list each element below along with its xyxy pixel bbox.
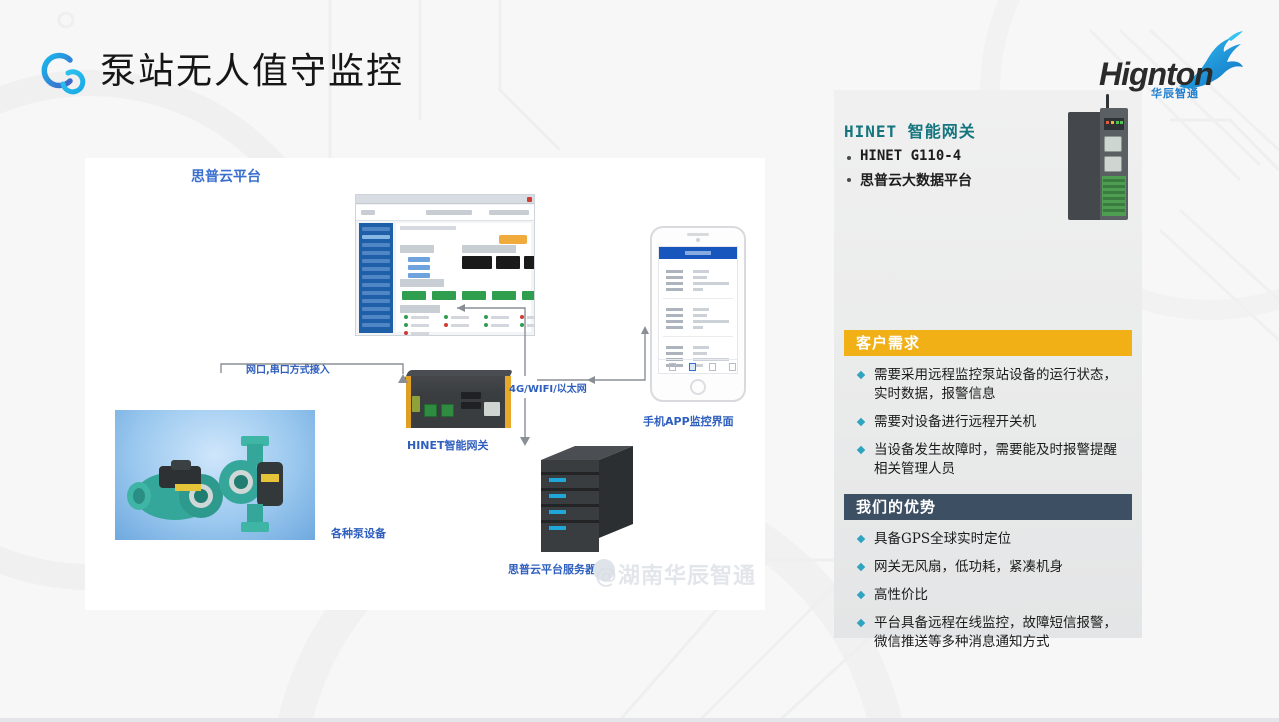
slide-canvas: 泵站无人值守监控 Hignton 华辰智通 思普云平台 — [0, 0, 1279, 722]
gateway-caption: HINET智能网关 — [407, 437, 489, 453]
hinet-product-block: HINET 智能网关 HINET G110-4 思普云大数据平台 — [844, 118, 1014, 190]
pump-equipment-photo — [115, 410, 315, 540]
customer-needs-heading: 客户需求 — [844, 330, 1132, 356]
serial-connection-label: 网口,串口方式接入 — [246, 361, 330, 376]
mobile-app-mockup — [650, 226, 746, 402]
advantages-list: 具备GPS全球实时定位 网关无风扇，低功耗，紧凑机身 高性价比 平台具备远程在线… — [844, 520, 1132, 660]
slide-header: 泵站无人值守监控 Hignton 华辰智通 — [0, 0, 1279, 118]
gateway-product-photo — [1068, 104, 1128, 224]
hinet-item-model: HINET G110-4 — [844, 148, 1014, 164]
architecture-diagram: 思普云平台 — [85, 158, 765, 610]
list-item: 具备GPS全球实时定位 — [852, 530, 1126, 549]
advantages-heading: 我们的优势 — [844, 494, 1132, 520]
cloud-server-illustration — [541, 446, 633, 556]
weibo-watermark-text: @湖南华辰智通 — [595, 558, 756, 590]
hinet-title: HINET 智能网关 — [844, 118, 1014, 142]
list-item: 当设备发生故障时，需要能及时报警提醒相关管理人员 — [852, 441, 1126, 479]
right-info-column: HINET 智能网关 HINET G110-4 思普云大数据平台 客户需求 需 — [834, 90, 1142, 638]
list-item: 平台具备远程在线监控，故障短信报警，微信推送等多种消息通知方式 — [852, 614, 1126, 652]
gateway-device-illustration — [398, 366, 524, 436]
brand-logo: Hignton 华辰智通 — [1095, 30, 1245, 102]
page-title: 泵站无人值守监控 — [100, 42, 404, 94]
brand-subtitle: 华辰智通 — [1151, 85, 1199, 101]
server-caption: 思普云平台服务器 — [508, 561, 596, 577]
list-item: 需要采用远程监控泵站设备的运行状态，实时数据，报警信息 — [852, 366, 1126, 404]
advantages-panel: 我们的优势 具备GPS全球实时定位 网关无风扇，低功耗，紧凑机身 高性价比 平台… — [844, 494, 1132, 660]
list-item: 高性价比 — [852, 586, 1126, 605]
list-item: 需要对设备进行远程开关机 — [852, 413, 1126, 432]
customer-needs-list: 需要采用远程监控泵站设备的运行状态，实时数据，报警信息 需要对设备进行远程开关机… — [844, 356, 1132, 487]
customer-needs-panel: 客户需求 需要采用远程监控泵站设备的运行状态，实时数据，报警信息 需要对设备进行… — [844, 330, 1132, 487]
network-connection-label: 4G/WIFI/以太网 — [509, 380, 587, 395]
slide-bottom-rule — [0, 718, 1279, 722]
pumps-caption: 各种泵设备 — [331, 525, 386, 541]
double-ring-logo-icon — [34, 41, 92, 99]
hinet-item-platform: 思普云大数据平台 — [844, 170, 1014, 190]
cloud-platform-label: 思普云平台 — [191, 166, 261, 186]
phone-caption: 手机APP监控界面 — [643, 413, 734, 429]
list-item: 网关无风扇，低功耗，紧凑机身 — [852, 558, 1126, 577]
